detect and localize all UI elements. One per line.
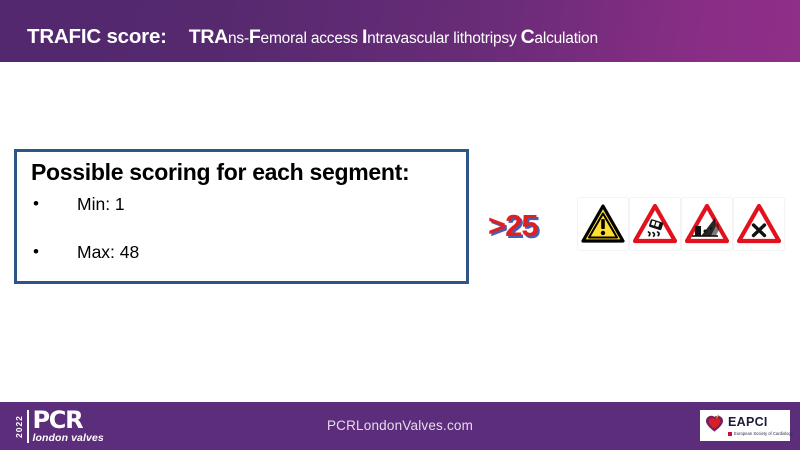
heart-icon	[705, 414, 724, 438]
acronym-part-0: TRA	[189, 26, 228, 48]
scoring-range-list: • Min: 1 • Max: 48	[27, 194, 447, 290]
crossroads-sign-tile	[734, 198, 784, 250]
max-score-label: Max: 48	[77, 242, 139, 262]
logo-year-label: 2022	[14, 410, 24, 444]
acronym-part-2: F	[249, 26, 261, 48]
warning-sign-row	[578, 198, 784, 250]
bullet-icon: •	[33, 194, 39, 214]
slippery-road-sign-tile	[630, 198, 680, 250]
eapci-name-label: EAPCI	[728, 415, 768, 429]
acronym-part-5: ntravascular lithotripsy	[367, 30, 521, 47]
eapci-badge: EAPCI European Society of Cardiology	[700, 410, 790, 441]
general-warning-icon	[581, 204, 625, 244]
slide-header-bar: TRAFIC score:TRAns-Femoral access Intrav…	[0, 0, 800, 62]
footer-website-url: PCRLondonValves.com	[0, 402, 800, 450]
page-title: TRAFIC score:TRAns-Femoral access Intrav…	[27, 27, 598, 48]
pcr-london-valves-logo: 2022 PCR london valves	[14, 408, 104, 446]
eapci-square-icon	[728, 432, 732, 436]
list-item: • Min: 1	[27, 194, 447, 242]
logo-subtitle-label: london valves	[33, 432, 104, 444]
slippery-road-icon	[633, 204, 677, 244]
logo-name-label: PCR	[33, 409, 104, 432]
acronym-part-7: alculation	[534, 30, 598, 47]
list-item: • Max: 48	[27, 242, 447, 290]
min-score-label: Min: 1	[77, 194, 125, 214]
eapci-text-block: EAPCI European Society of Cardiology	[728, 414, 793, 437]
falling-rocks-sign-tile	[682, 198, 732, 250]
slide-footer-bar: PCRLondonValves.com 2022 PCR london valv…	[0, 402, 800, 450]
acronym-part-1: ns-	[228, 30, 249, 47]
acronym-part-3: emoral access	[261, 30, 362, 47]
general-warning-sign-tile	[578, 198, 628, 250]
acronym-part-6: C	[521, 26, 535, 48]
scoring-box-heading: Possible scoring for each segment:	[31, 159, 409, 186]
slide-content-area: Possible scoring for each segment: • Min…	[0, 62, 800, 402]
bullet-icon: •	[33, 242, 39, 262]
title-main-label: TRAFIC score:	[27, 25, 167, 48]
eapci-subtitle-label: European Society of Cardiology	[728, 430, 793, 437]
logo-wordmark: PCR london valves	[33, 409, 104, 444]
logo-divider	[27, 410, 29, 443]
threshold-callout: >25	[488, 210, 538, 241]
scoring-info-box: Possible scoring for each segment: • Min…	[14, 149, 469, 284]
crossroads-x-icon	[737, 204, 781, 244]
eapci-society-label: European Society of Cardiology	[734, 430, 793, 437]
falling-rocks-icon	[685, 204, 729, 244]
